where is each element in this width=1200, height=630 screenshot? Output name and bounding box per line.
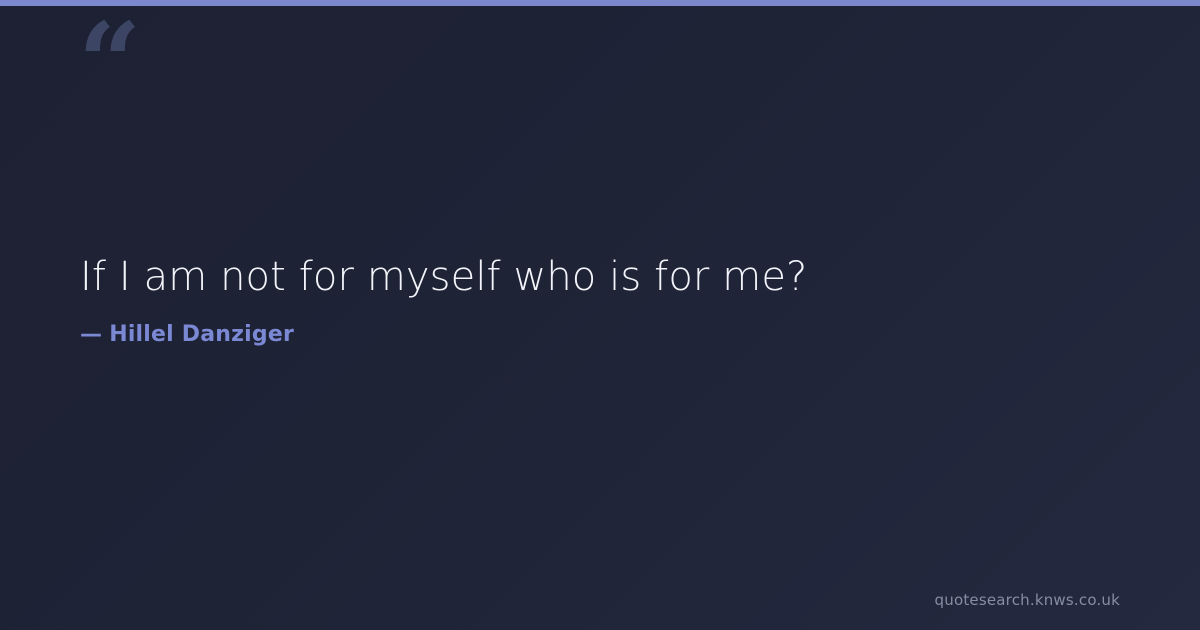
quote-content: If I am not for myself who is for me? —H… [80, 252, 1120, 348]
footer-site-url: quotesearch.knws.co.uk [935, 593, 1120, 608]
quotation-mark-icon: “ [78, 8, 139, 118]
quote-text: If I am not for myself who is for me? [80, 252, 1120, 302]
attribution-dash: — [80, 322, 102, 348]
top-accent-bar [0, 0, 1200, 6]
attribution-author: Hillel Danziger [109, 322, 294, 347]
quote-card: “ If I am not for myself who is for me? … [0, 0, 1200, 630]
quote-attribution: —Hillel Danziger [80, 302, 1120, 348]
